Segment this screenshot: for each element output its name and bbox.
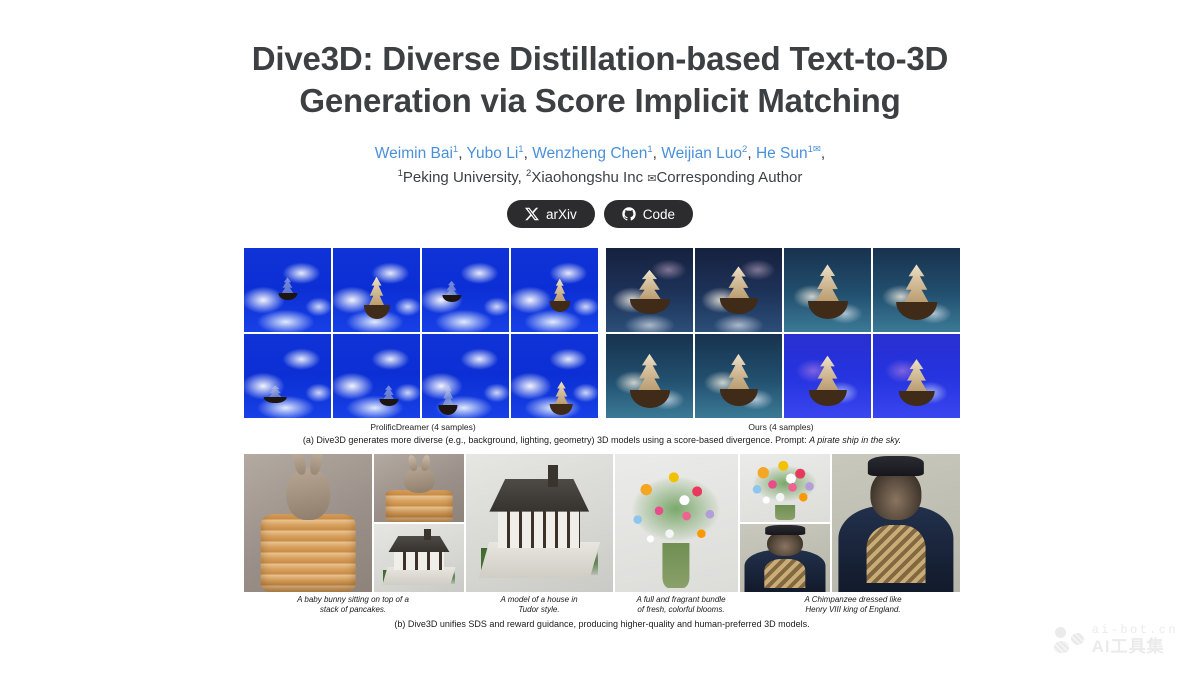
sample-image [511, 334, 598, 418]
sample-image-flowers-small [740, 454, 830, 522]
sample-image [873, 334, 960, 418]
author-link-5[interactable]: He Sun1✉ [756, 145, 821, 162]
prompt-caption-house-line1: A model of a house in [462, 595, 616, 606]
code-button-label: Code [643, 208, 675, 222]
author-sep-4: , [747, 145, 756, 162]
author-sep-3: , [653, 145, 662, 162]
sample-image [784, 248, 871, 332]
github-icon [622, 207, 636, 221]
bunny-house-stack [374, 454, 464, 592]
affiliation-line: 1Peking University, 2Xiaohongshu Inc ✉Co… [0, 168, 1200, 186]
prolificdreamer-label: ProlificDreamer (4 samples) [244, 422, 602, 432]
ai-bot-logo-icon [1054, 627, 1084, 653]
sample-image [606, 248, 693, 332]
sample-image-house-small [374, 524, 464, 592]
sample-image [244, 248, 331, 332]
prompt-caption-chimp-line1: A Chimpanzee dressed like [746, 595, 960, 606]
author-list: Weimin Bai1, Yubo Li1, Wenzheng Chen1, W… [0, 142, 1200, 166]
sample-image [333, 248, 420, 332]
link-button-group: arXiv Code [0, 200, 1200, 228]
x-logo-icon [525, 207, 539, 221]
code-button[interactable]: Code [604, 200, 693, 228]
affiliation-1: Peking University, [403, 169, 526, 186]
watermark-brand: AI工具集 [1092, 638, 1178, 655]
sample-image [422, 334, 509, 418]
panel-a-method-labels: ProlificDreamer (4 samples) Ours (4 samp… [244, 422, 960, 432]
arxiv-button[interactable]: arXiv [507, 200, 595, 228]
sample-image [422, 248, 509, 332]
sample-image [695, 248, 782, 332]
teaser-figure: ProlificDreamer (4 samples) Ours (4 samp… [244, 248, 960, 631]
sample-image-bunny-large [244, 454, 372, 592]
page-title-line-2: Generation via Score Implicit Matching [0, 80, 1200, 122]
ours-sample-grid [606, 248, 960, 418]
arxiv-button-label: arXiv [546, 208, 577, 222]
prompt-caption-chimp: A Chimpanzee dressed like Henry VIII kin… [746, 595, 960, 617]
project-page: Dive3D: Diverse Distillation-based Text-… [0, 0, 1200, 675]
prompt-caption-flowers: A full and fragrant bundle of fresh, col… [616, 595, 746, 617]
flowers-chimp-stack [740, 454, 830, 592]
sample-image [695, 334, 782, 418]
watermark: ai-bot.cn AI工具集 [1054, 624, 1178, 655]
watermark-url: ai-bot.cn [1092, 624, 1178, 636]
author-link-2[interactable]: Yubo Li1 [467, 145, 524, 162]
sample-image [606, 334, 693, 418]
bunny-group [244, 454, 464, 592]
sample-image-bunny-small [374, 454, 464, 522]
sample-image [244, 334, 331, 418]
author-link-4[interactable]: Weijian Luo2 [661, 145, 747, 162]
prompt-caption-bunny-line2: stack of pancakes. [244, 605, 462, 616]
page-title-line-1: Dive3D: Diverse Distillation-based Text-… [0, 38, 1200, 80]
prompt-caption-flowers-line1: A full and fragrant bundle [616, 595, 746, 606]
sample-image [784, 334, 871, 418]
sample-image-chimp-large [832, 454, 960, 592]
panel-a-caption-text: (a) Dive3D generates more diverse (e.g.,… [303, 435, 809, 445]
sample-image-house-large [466, 454, 613, 592]
author-link-1[interactable]: Weimin Bai1 [375, 145, 458, 162]
author-sep-1: , [458, 145, 466, 162]
author-affiliation-sup-5: 1✉ [808, 144, 821, 155]
page-title: Dive3D: Diverse Distillation-based Text-… [0, 0, 1200, 122]
sample-image [333, 334, 420, 418]
prompt-caption-bunny-line1: A baby bunny sitting on top of a [244, 595, 462, 606]
prompt-caption-house-line2: Tudor style. [462, 605, 616, 616]
panel-a-image-grids [244, 248, 960, 418]
panel-b-caption: (b) Dive3D unifies SDS and reward guidan… [244, 619, 960, 631]
flowers-chimp-group [740, 454, 960, 592]
panel-a-caption: (a) Dive3D generates more diverse (e.g.,… [244, 435, 960, 447]
author-list-trailing: , [821, 145, 825, 162]
watermark-text: ai-bot.cn AI工具集 [1092, 624, 1178, 655]
author-link-3[interactable]: Wenzheng Chen1 [532, 145, 652, 162]
panel-b-prompt-captions: A baby bunny sitting on top of a stack o… [244, 595, 960, 617]
affiliation-2: Xiaohongshu Inc [531, 169, 647, 186]
prompt-caption-flowers-line2: of fresh, colorful blooms. [616, 605, 746, 616]
prompt-caption-bunny: A baby bunny sitting on top of a stack o… [244, 595, 462, 617]
panel-b-image-row [244, 454, 960, 592]
prompt-caption-chimp-line2: Henry VIII king of England. [746, 605, 960, 616]
sample-image [873, 248, 960, 332]
ours-label: Ours (4 samples) [602, 422, 960, 432]
sample-image-chimp-small [740, 524, 830, 592]
prompt-caption-house: A model of a house in Tudor style. [462, 595, 616, 617]
sample-image [511, 248, 598, 332]
prolificdreamer-sample-grid [244, 248, 598, 418]
corresponding-author-note: Corresponding Author [656, 169, 802, 186]
author-sep-2: , [524, 145, 533, 162]
panel-a-prompt: A pirate ship in the sky. [809, 435, 901, 445]
sample-image-flowers-large [615, 454, 738, 592]
